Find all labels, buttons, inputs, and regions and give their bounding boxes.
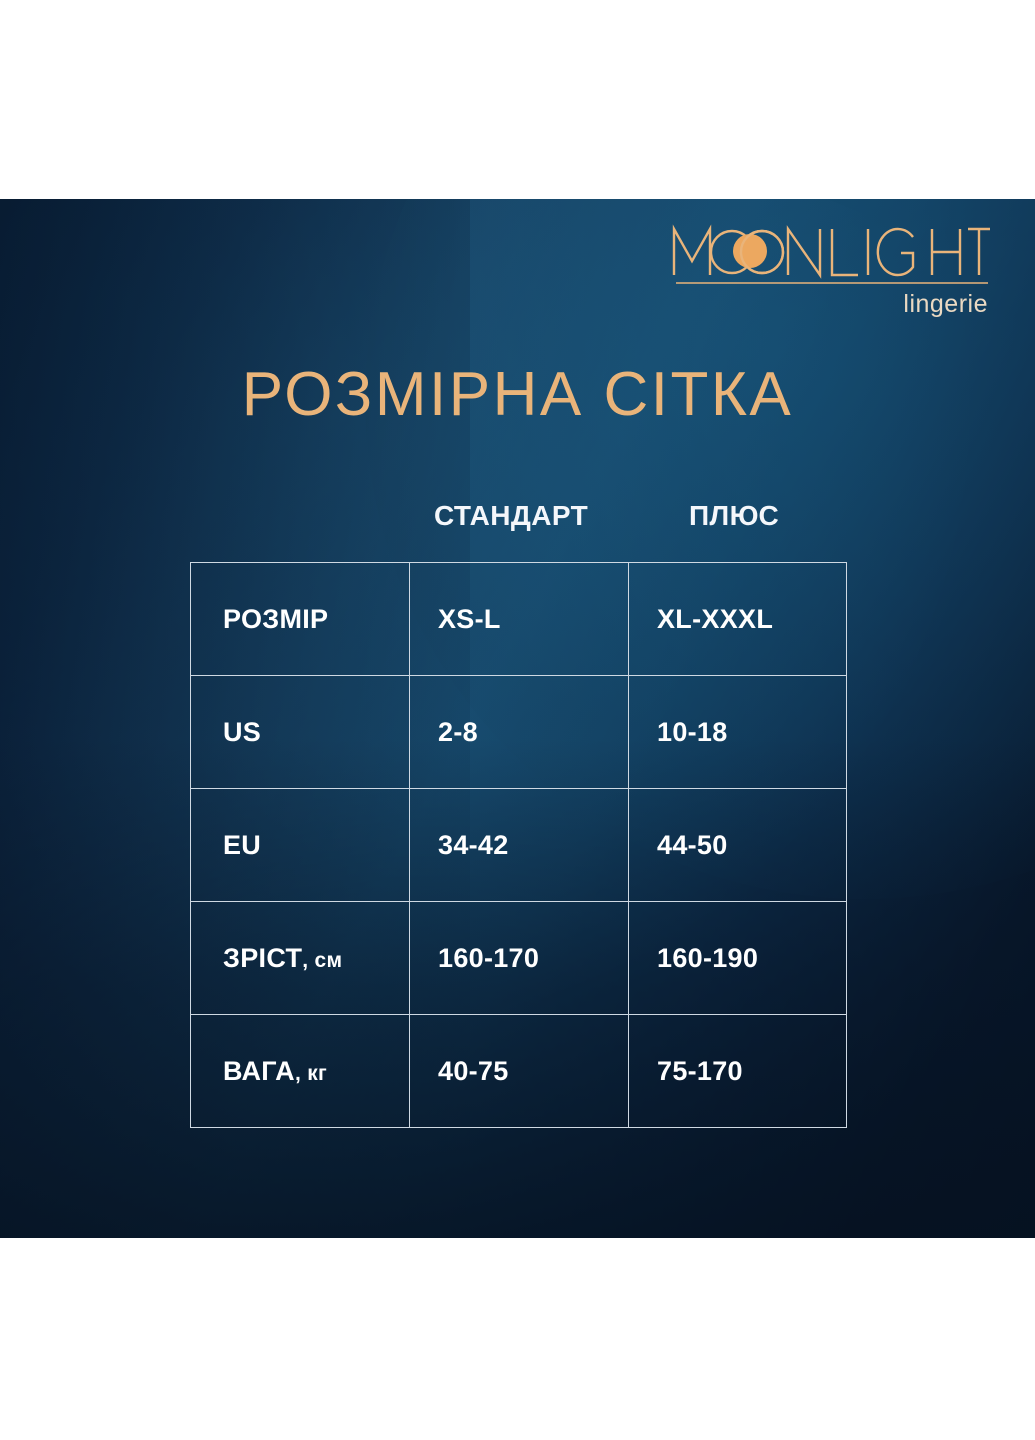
cell-standard: XS-L bbox=[410, 563, 629, 676]
size-table-body: РОЗМІР XS-L XL-XXXL US 2-8 10-18 EU 34-4… bbox=[191, 563, 847, 1128]
moon-glyph bbox=[733, 234, 767, 268]
row-label: EU bbox=[191, 789, 410, 902]
cell-plus: 10-18 bbox=[629, 676, 847, 789]
table-row: EU 34-42 44-50 bbox=[191, 789, 847, 902]
size-table: РОЗМІР XS-L XL-XXXL US 2-8 10-18 EU 34-4… bbox=[190, 562, 847, 1128]
cell-standard: 40-75 bbox=[410, 1015, 629, 1128]
row-label: РОЗМІР bbox=[191, 563, 410, 676]
row-label: ЗРІСТ, см bbox=[191, 902, 410, 1015]
cell-plus: 44-50 bbox=[629, 789, 847, 902]
size-chart-card: lingerie РОЗМІРНА СІТКА СТАНДАРТ ПЛЮС РО… bbox=[0, 199, 1035, 1238]
group-header-standard: СТАНДАРТ bbox=[434, 500, 588, 532]
table-row: ВАГА, кг 40-75 75-170 bbox=[191, 1015, 847, 1128]
row-label-unit: , кг bbox=[295, 1062, 327, 1085]
row-label-text: ЗРІСТ bbox=[223, 943, 302, 973]
cell-standard: 160-170 bbox=[410, 902, 629, 1015]
row-label: US bbox=[191, 676, 410, 789]
column-group-headers: СТАНДАРТ ПЛЮС bbox=[0, 500, 1035, 542]
logo-tagline: lingerie bbox=[670, 292, 990, 317]
row-label-text: РОЗМІР bbox=[223, 604, 328, 634]
row-label-unit: , см bbox=[302, 949, 342, 972]
page-title: РОЗМІРНА СІТКА bbox=[0, 359, 1035, 430]
cell-standard: 34-42 bbox=[410, 789, 629, 902]
group-header-plus: ПЛЮС bbox=[689, 500, 779, 532]
row-label-text: EU bbox=[223, 830, 261, 860]
logo-wordmark bbox=[670, 217, 990, 291]
cell-plus: XL-XXXL bbox=[629, 563, 847, 676]
row-label-text: US bbox=[223, 717, 261, 747]
page-root: lingerie РОЗМІРНА СІТКА СТАНДАРТ ПЛЮС РО… bbox=[0, 0, 1035, 1440]
row-label: ВАГА, кг bbox=[191, 1015, 410, 1128]
table-row: ЗРІСТ, см 160-170 160-190 bbox=[191, 902, 847, 1015]
brand-logo: lingerie bbox=[670, 217, 990, 317]
table-row: РОЗМІР XS-L XL-XXXL bbox=[191, 563, 847, 676]
cell-plus: 75-170 bbox=[629, 1015, 847, 1128]
cell-plus: 160-190 bbox=[629, 902, 847, 1015]
cell-standard: 2-8 bbox=[410, 676, 629, 789]
table-row: US 2-8 10-18 bbox=[191, 676, 847, 789]
row-label-text: ВАГА bbox=[223, 1056, 295, 1086]
